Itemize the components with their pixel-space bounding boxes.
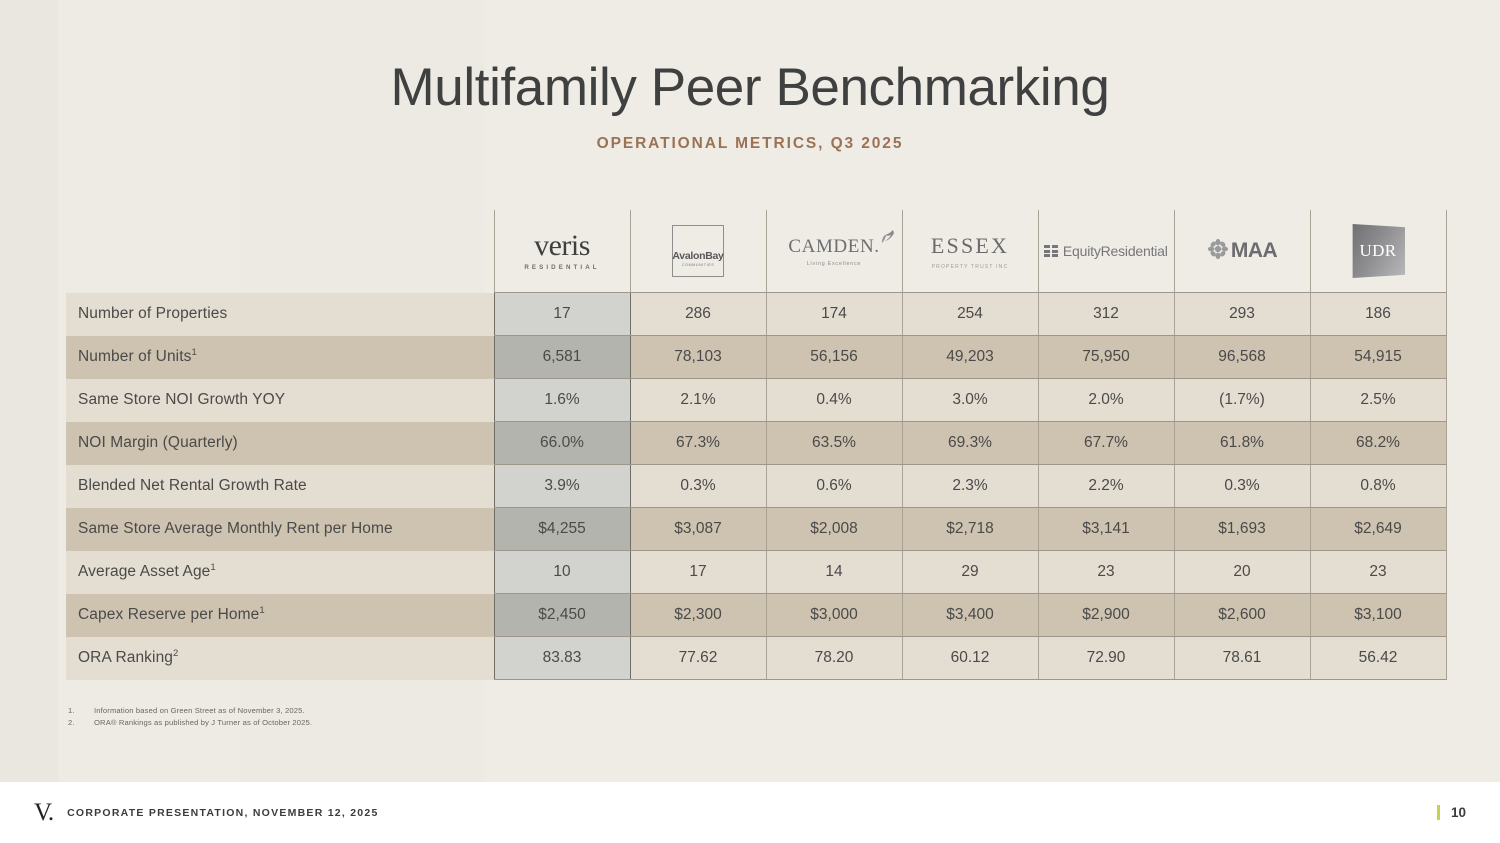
footnotes: 1. Information based on Green Street as … <box>68 705 312 729</box>
table-row: Average Asset Age110171429232023 <box>66 551 1446 594</box>
footer-label: CORPORATE PRESENTATION, NOVEMBER 12, 202… <box>67 807 378 819</box>
cell-eqr: 23 <box>1038 551 1174 594</box>
essex-logo: ESSEX PROPERTY TRUST INC <box>931 233 1009 270</box>
title-block: Multifamily Peer Benchmarking OPERATIONA… <box>0 58 1500 153</box>
camden-logo: CAMDEN. Living Excellence <box>788 236 879 267</box>
veris-tagline: RESIDENTIAL <box>524 265 599 271</box>
cell-veris: 83.83 <box>494 637 630 680</box>
essex-tagline: PROPERTY TRUST INC <box>931 264 1009 270</box>
cell-eqr: $3,141 <box>1038 508 1174 551</box>
cell-maa: 96,568 <box>1174 336 1310 379</box>
cell-udr: 54,915 <box>1310 336 1446 379</box>
cell-veris: 1.6% <box>494 379 630 422</box>
column-header-maa: MAA <box>1174 210 1310 293</box>
veris-wordmark: veris <box>524 231 599 261</box>
cell-camden: 78.20 <box>766 637 902 680</box>
slide-footer: V. CORPORATE PRESENTATION, NOVEMBER 12, … <box>0 782 1500 843</box>
cell-maa: 293 <box>1174 293 1310 336</box>
cell-udr: $3,100 <box>1310 594 1446 637</box>
equity-grid-icon <box>1044 245 1058 257</box>
cell-maa: 20 <box>1174 551 1310 594</box>
cell-eqr: 2.0% <box>1038 379 1174 422</box>
page-title: Multifamily Peer Benchmarking <box>0 58 1500 119</box>
cell-udr: 56.42 <box>1310 637 1446 680</box>
cell-essex: 254 <box>902 293 1038 336</box>
cell-eqr: 312 <box>1038 293 1174 336</box>
row-label: NOI Margin (Quarterly) <box>66 422 494 465</box>
avalonbay-tagline: COMMUNITIES <box>682 263 715 267</box>
table-row: Capex Reserve per Home1$2,450$2,300$3,00… <box>66 594 1446 637</box>
footnote-text: ORA® Rankings as published by J Turner a… <box>94 717 312 729</box>
camden-wordmark: CAMDEN. <box>788 236 879 258</box>
column-header-avalonbay: AvalonBay COMMUNITIES <box>630 210 766 293</box>
cell-camden: $3,000 <box>766 594 902 637</box>
veris-residential-logo: veris RESIDENTIAL <box>524 231 599 271</box>
cell-essex: $2,718 <box>902 508 1038 551</box>
table-row: Same Store Average Monthly Rent per Home… <box>66 508 1446 551</box>
page-subtitle: OPERATIONAL METRICS, Q3 2025 <box>0 135 1500 153</box>
cell-avalon: 67.3% <box>630 422 766 465</box>
cell-essex: 2.3% <box>902 465 1038 508</box>
maa-wordmark: MAA <box>1231 239 1277 263</box>
page-accent-tick <box>1437 805 1440 820</box>
table-body: Number of Properties17286174254312293186… <box>66 293 1446 680</box>
row-label: ORA Ranking2 <box>66 637 494 680</box>
table-row: Number of Properties17286174254312293186 <box>66 293 1446 336</box>
camden-bird-icon <box>878 228 898 253</box>
maa-logo: MAA <box>1207 238 1277 265</box>
row-label: Average Asset Age1 <box>66 551 494 594</box>
cell-veris: 10 <box>494 551 630 594</box>
cell-avalon: 2.1% <box>630 379 766 422</box>
table-row: Blended Net Rental Growth Rate3.9%0.3%0.… <box>66 465 1446 508</box>
cell-avalon: 17 <box>630 551 766 594</box>
equity-residential-logo: EquityResidential <box>1044 243 1167 259</box>
slide-canvas: Multifamily Peer Benchmarking OPERATIONA… <box>0 0 1500 782</box>
column-header-udr: UDR <box>1310 210 1446 293</box>
cell-avalon: 0.3% <box>630 465 766 508</box>
footnote-text: Information based on Green Street as of … <box>94 705 305 717</box>
cell-veris: $2,450 <box>494 594 630 637</box>
cell-camden: 0.4% <box>766 379 902 422</box>
row-label: Same Store Average Monthly Rent per Home <box>66 508 494 551</box>
maa-rosette-icon <box>1207 238 1229 265</box>
cell-eqr: 2.2% <box>1038 465 1174 508</box>
row-label-footnote-marker: 1 <box>259 605 264 616</box>
veris-footer-mark: V. <box>34 800 53 825</box>
page-number: 10 <box>1451 805 1466 820</box>
benchmarking-table-wrapper: veris RESIDENTIAL AvalonBay COMMUNITIES <box>66 210 1446 680</box>
cell-maa: $1,693 <box>1174 508 1310 551</box>
cell-camden: 56,156 <box>766 336 902 379</box>
cell-camden: 63.5% <box>766 422 902 465</box>
cell-udr: 23 <box>1310 551 1446 594</box>
cell-udr: $2,649 <box>1310 508 1446 551</box>
cell-veris: $4,255 <box>494 508 630 551</box>
cell-camden: 14 <box>766 551 902 594</box>
table-row: Number of Units16,58178,10356,15649,2037… <box>66 336 1446 379</box>
cell-essex: 3.0% <box>902 379 1038 422</box>
cell-camden: 0.6% <box>766 465 902 508</box>
cell-avalon: 78,103 <box>630 336 766 379</box>
cell-eqr: 72.90 <box>1038 637 1174 680</box>
cell-veris: 17 <box>494 293 630 336</box>
row-label: Number of Units1 <box>66 336 494 379</box>
cell-maa: 78.61 <box>1174 637 1310 680</box>
table-row: ORA Ranking283.8377.6278.2060.1272.9078.… <box>66 637 1446 680</box>
cell-udr: 68.2% <box>1310 422 1446 465</box>
cell-avalon: 77.62 <box>630 637 766 680</box>
table-header-row: veris RESIDENTIAL AvalonBay COMMUNITIES <box>66 210 1446 293</box>
cell-camden: $2,008 <box>766 508 902 551</box>
equity-wordmark: EquityResidential <box>1063 243 1168 259</box>
footnote-item: 2. ORA® Rankings as published by J Turne… <box>68 717 312 729</box>
cell-essex: $3,400 <box>902 594 1038 637</box>
row-label-footnote-marker: 1 <box>191 347 196 358</box>
footnote-item: 1. Information based on Green Street as … <box>68 705 312 717</box>
cell-udr: 2.5% <box>1310 379 1446 422</box>
udr-logo: UDR <box>1351 224 1405 278</box>
cell-essex: 29 <box>902 551 1038 594</box>
cell-eqr: 75,950 <box>1038 336 1174 379</box>
cell-veris: 6,581 <box>494 336 630 379</box>
cell-essex: 60.12 <box>902 637 1038 680</box>
cell-essex: 69.3% <box>902 422 1038 465</box>
table-row: Same Store NOI Growth YOY1.6%2.1%0.4%3.0… <box>66 379 1446 422</box>
column-header-essex: ESSEX PROPERTY TRUST INC <box>902 210 1038 293</box>
cell-eqr: 67.7% <box>1038 422 1174 465</box>
cell-maa: (1.7%) <box>1174 379 1310 422</box>
row-label: Capex Reserve per Home1 <box>66 594 494 637</box>
benchmarking-table: veris RESIDENTIAL AvalonBay COMMUNITIES <box>66 210 1447 680</box>
header-label-spacer <box>66 210 494 293</box>
cell-eqr: $2,900 <box>1038 594 1174 637</box>
footnote-number: 1. <box>68 705 94 717</box>
footer-page-area: 10 <box>1437 805 1466 820</box>
cell-veris: 3.9% <box>494 465 630 508</box>
row-label-footnote-marker: 2 <box>173 648 178 659</box>
cell-udr: 186 <box>1310 293 1446 336</box>
avalonbay-wordmark: AvalonBay <box>672 251 723 262</box>
cell-essex: 49,203 <box>902 336 1038 379</box>
cell-avalon: $2,300 <box>630 594 766 637</box>
cell-avalon: $3,087 <box>630 508 766 551</box>
cell-maa: 61.8% <box>1174 422 1310 465</box>
cell-camden: 174 <box>766 293 902 336</box>
column-header-equity-residential: EquityResidential <box>1038 210 1174 293</box>
footnote-number: 2. <box>68 717 94 729</box>
cell-avalon: 286 <box>630 293 766 336</box>
avalonbay-logo: AvalonBay COMMUNITIES <box>672 225 724 277</box>
table-row: NOI Margin (Quarterly)66.0%67.3%63.5%69.… <box>66 422 1446 465</box>
column-header-veris: veris RESIDENTIAL <box>494 210 630 293</box>
row-label: Same Store NOI Growth YOY <box>66 379 494 422</box>
cell-veris: 66.0% <box>494 422 630 465</box>
cell-udr: 0.8% <box>1310 465 1446 508</box>
column-header-camden: CAMDEN. Living Excellence <box>766 210 902 293</box>
udr-wordmark: UDR <box>1359 241 1396 261</box>
row-label: Number of Properties <box>66 293 494 336</box>
row-label-footnote-marker: 1 <box>210 562 215 573</box>
camden-tagline: Living Excellence <box>788 261 879 267</box>
row-label: Blended Net Rental Growth Rate <box>66 465 494 508</box>
cell-maa: $2,600 <box>1174 594 1310 637</box>
cell-maa: 0.3% <box>1174 465 1310 508</box>
essex-wordmark: ESSEX <box>931 233 1009 259</box>
